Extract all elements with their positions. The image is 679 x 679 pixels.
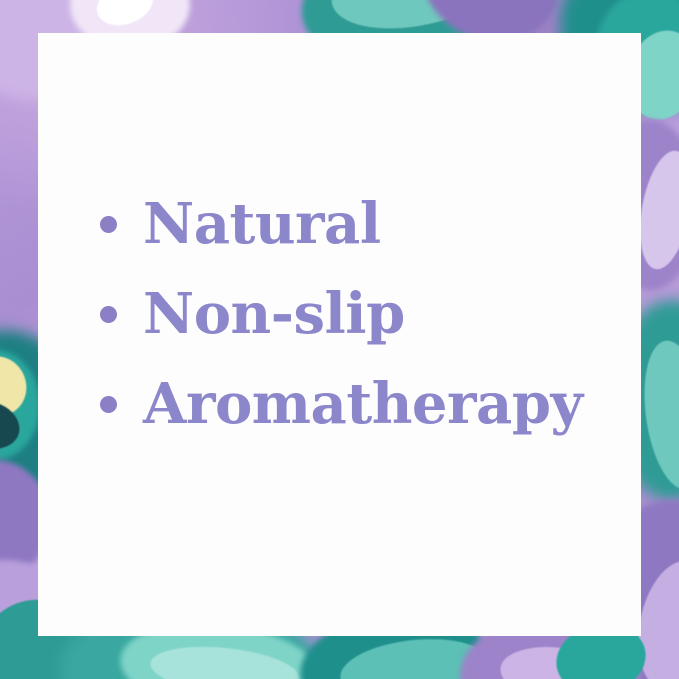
list-item: Aromatherapy bbox=[100, 376, 583, 432]
bullet-dot-icon bbox=[100, 306, 117, 323]
feature-label: Non-slip bbox=[143, 286, 405, 342]
product-feature-image: Natural Non-slip Aromatherapy bbox=[0, 0, 679, 679]
feature-label: Aromatherapy bbox=[143, 376, 583, 432]
list-item: Non-slip bbox=[100, 286, 583, 342]
bullet-dot-icon bbox=[100, 216, 117, 233]
list-item: Natural bbox=[100, 196, 583, 252]
feature-list: Natural Non-slip Aromatherapy bbox=[100, 196, 583, 466]
feature-label: Natural bbox=[143, 196, 381, 252]
bullet-dot-icon bbox=[100, 396, 117, 413]
